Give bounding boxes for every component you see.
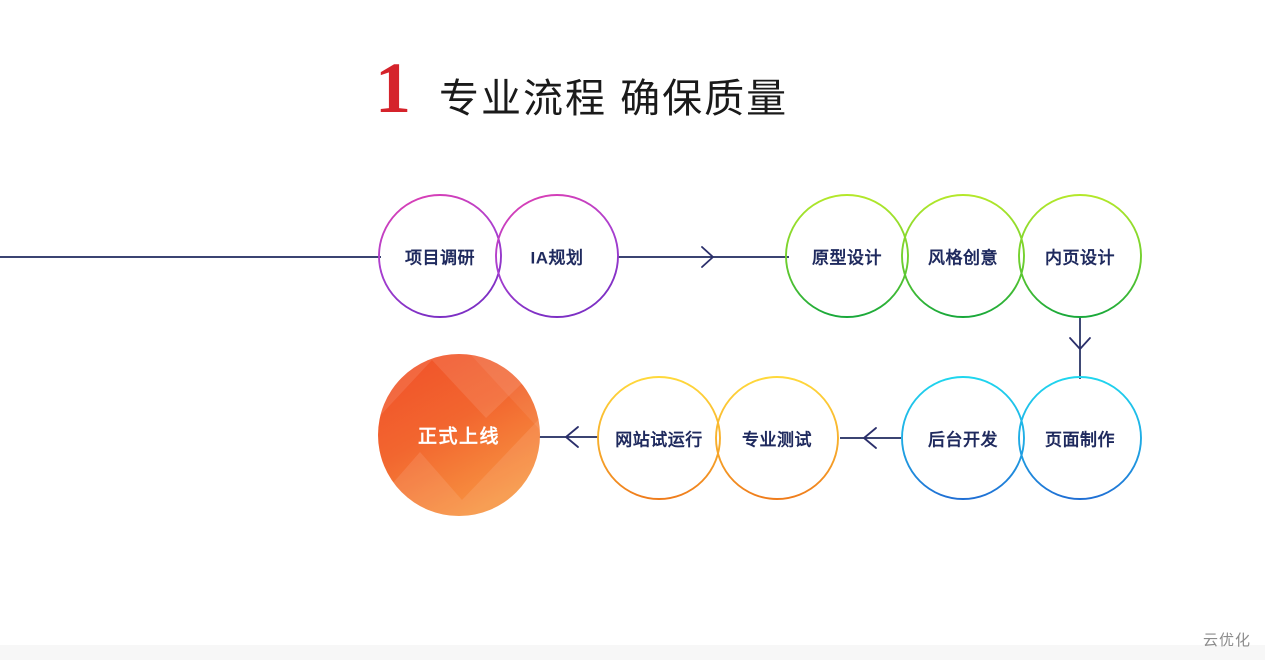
node-circle-project-research[interactable] xyxy=(379,195,501,317)
node-circle-backend-development[interactable] xyxy=(902,377,1024,499)
node-circle-prototype-design[interactable] xyxy=(786,195,908,317)
node-circle-professional-testing[interactable] xyxy=(716,377,838,499)
node-circle-official-launch[interactable] xyxy=(378,354,540,520)
node-circle-style-creative[interactable] xyxy=(902,195,1024,317)
process-flow-diagram xyxy=(0,0,1265,660)
watermark: 云优化 xyxy=(1203,629,1251,650)
node-circle-trial-run[interactable] xyxy=(598,377,720,499)
slide-canvas: 1 专业流程 确保质量 xyxy=(0,0,1265,660)
footer-band xyxy=(0,645,1265,660)
node-circle-ia-planning[interactable] xyxy=(496,195,618,317)
node-circle-inner-page-design[interactable] xyxy=(1019,195,1141,317)
node-circle-page-production[interactable] xyxy=(1019,377,1141,499)
